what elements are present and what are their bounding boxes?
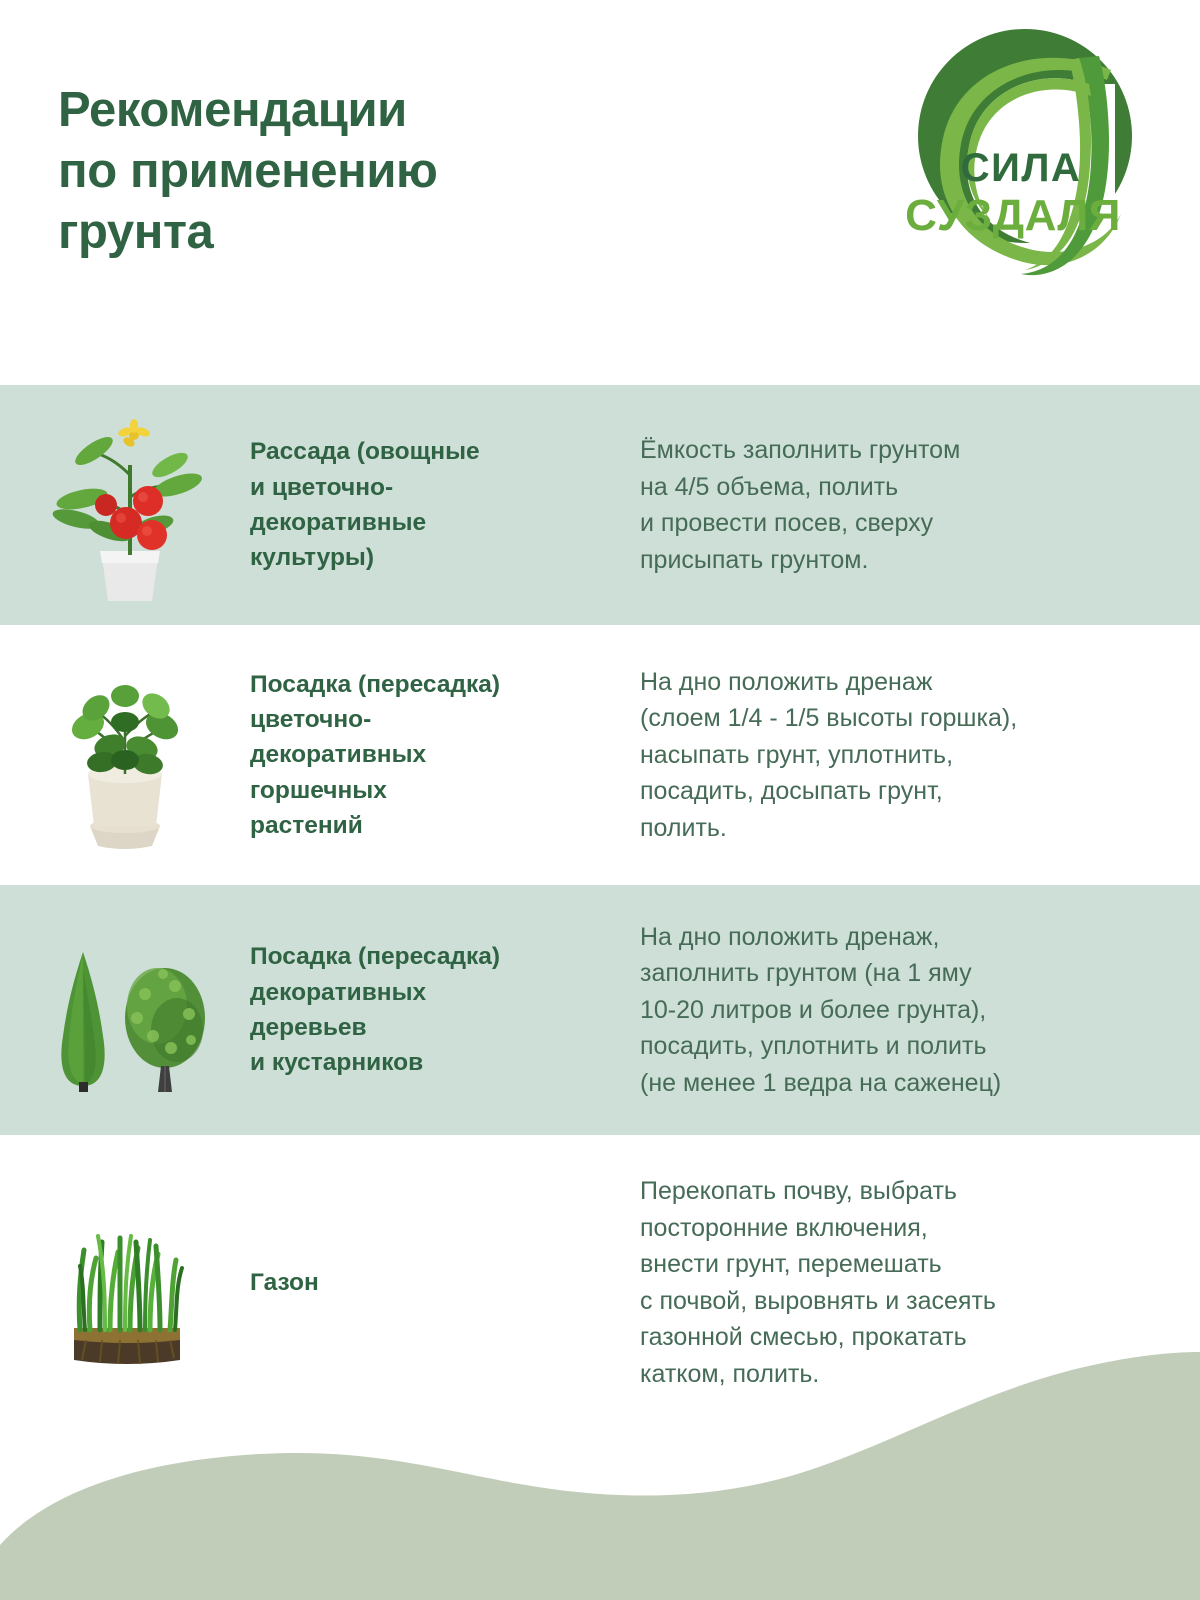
tomato-seedling-icon (30, 405, 220, 605)
row-description: На дно положить дренаж, заполнить грунто… (640, 919, 1200, 1102)
logo-line2-text: СУЗДАЛЯ (905, 191, 1121, 240)
table-row: Посадка (пересадка) декоративных деревье… (0, 885, 1200, 1135)
page-title: Рекомендации по применению грунта (58, 80, 698, 262)
table-row: Посадка (пересадка) цветочно- декоративн… (0, 625, 1200, 885)
logo-line1-text: СИЛА (961, 146, 1082, 190)
header: Рекомендации по применению грунта СИЛА С… (0, 0, 1200, 360)
row-title: Посадка (пересадка) цветочно- декоративн… (250, 667, 640, 843)
sila-suzdalya-logo: СИЛА СУЗДАЛЯ (893, 18, 1158, 280)
row-description: Перекопать почву, выбрать посторонние вк… (640, 1173, 1200, 1392)
row-description: Ёмкость заполнить грунтом на 4/5 объема,… (640, 432, 1200, 578)
row-title: Посадка (пересадка) декоративных деревье… (250, 939, 640, 1080)
row-title: Газон (250, 1265, 640, 1300)
lawn-grass-icon (30, 1188, 220, 1378)
row-icon-cell (0, 385, 250, 625)
infographic-page: Рекомендации по применению грунта СИЛА С… (0, 0, 1200, 1600)
trees-shrubs-icon (25, 910, 225, 1110)
table-row: Рассада (овощные и цветочно- декоративны… (0, 385, 1200, 625)
recommendation-rows: Рассада (овощные и цветочно- декоративны… (0, 385, 1200, 1430)
row-description: На дно положить дренаж (слоем 1/4 - 1/5 … (640, 664, 1200, 847)
potted-plant-icon (30, 650, 220, 860)
row-icon-cell (0, 885, 250, 1135)
table-row: Газон Перекопать почву, выбрать посторон… (0, 1135, 1200, 1430)
row-title: Рассада (овощные и цветочно- декоративны… (250, 434, 640, 575)
row-icon-cell (0, 625, 250, 885)
row-icon-cell (0, 1135, 250, 1430)
